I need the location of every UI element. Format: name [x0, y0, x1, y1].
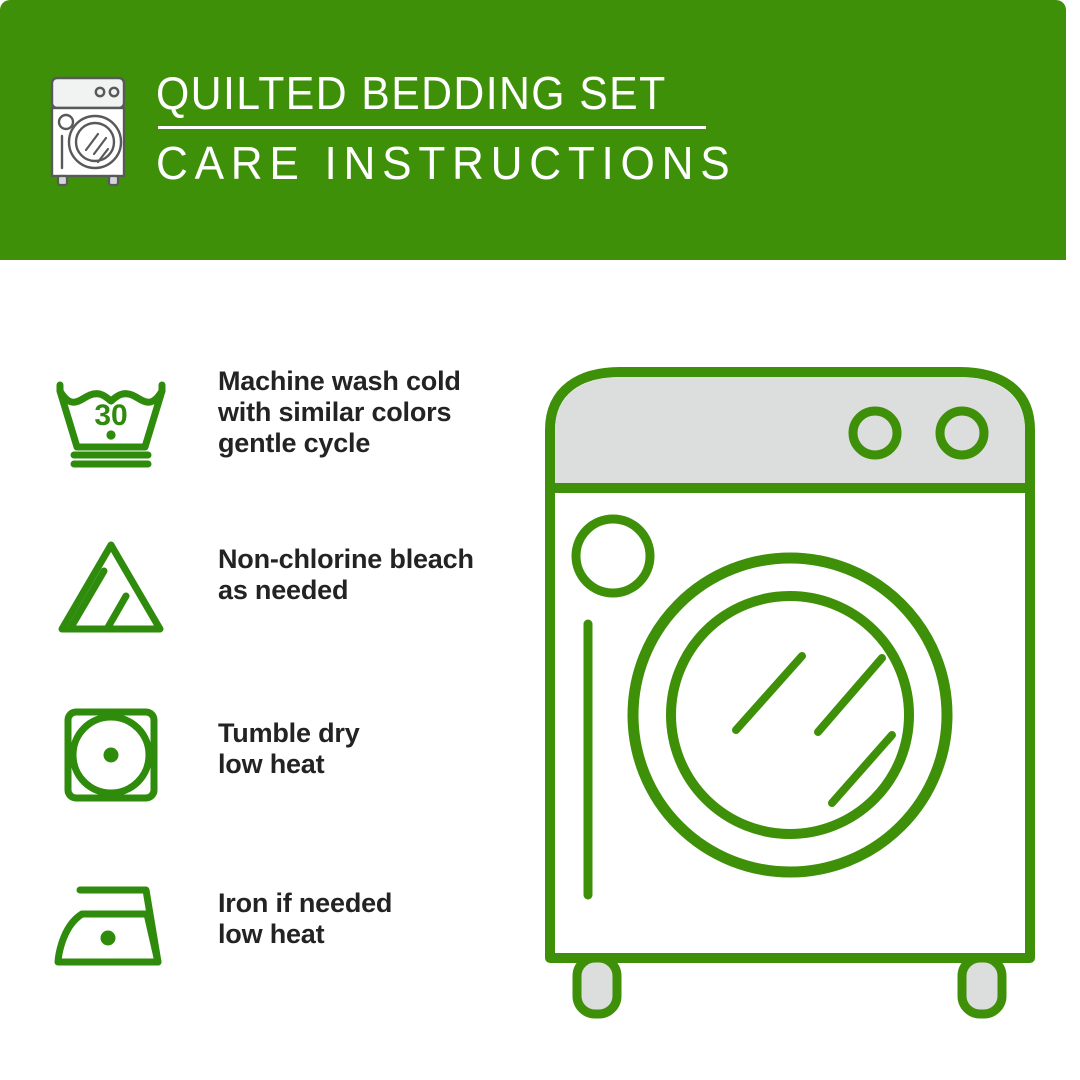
- care-text-line: as needed: [218, 575, 474, 606]
- title-divider: [158, 126, 706, 129]
- care-text-line: Iron if needed: [218, 888, 392, 919]
- wash-temperature-label: 30: [94, 399, 127, 432]
- care-text-line: low heat: [218, 749, 360, 780]
- care-text-line: Tumble dry: [218, 718, 360, 749]
- care-item-bleach: Non-chlorine bleach as needed: [46, 528, 516, 643]
- tumble-dry-icon: [46, 698, 176, 813]
- care-item-iron: Iron if needed low heat: [46, 868, 516, 983]
- iron-icon: [46, 868, 176, 983]
- page-title: QUILTED BEDDING SET: [156, 66, 718, 120]
- control-panel: [555, 377, 1025, 488]
- non-chlorine-bleach-icon: [46, 528, 176, 643]
- care-text-line: gentle cycle: [218, 428, 461, 459]
- care-item-machine-wash: 30 Machine wash cold with similar colors…: [46, 360, 516, 475]
- washing-machine-illustration: [530, 360, 1050, 1020]
- care-text-line: Machine wash cold: [218, 366, 461, 397]
- care-text-line: low heat: [218, 919, 392, 950]
- header-banner: QUILTED BEDDING SET CARE INSTRUCTIONS: [0, 0, 1066, 260]
- care-item-text: Machine wash cold with similar colors ge…: [218, 360, 461, 459]
- care-item-text: Non-chlorine bleach as needed: [218, 528, 474, 606]
- care-instructions-card: QUILTED BEDDING SET CARE INSTRUCTIONS 30: [0, 0, 1080, 1080]
- care-item-text: Iron if needed low heat: [218, 868, 392, 950]
- header-content: QUILTED BEDDING SET CARE INSTRUCTIONS: [48, 64, 761, 191]
- care-text-line: with similar colors: [218, 397, 461, 428]
- washing-machine-logo-icon: [48, 76, 134, 188]
- machine-wash-icon: 30: [46, 360, 176, 475]
- machine-leg-left: [577, 958, 617, 1014]
- care-text-line: Non-chlorine bleach: [218, 544, 474, 575]
- care-item-text: Tumble dry low heat: [218, 698, 360, 780]
- page-subtitle: CARE INSTRUCTIONS: [156, 135, 736, 191]
- header-titles: QUILTED BEDDING SET CARE INSTRUCTIONS: [156, 64, 761, 191]
- care-item-tumble-dry: Tumble dry low heat: [46, 698, 516, 813]
- machine-leg-right: [962, 958, 1002, 1014]
